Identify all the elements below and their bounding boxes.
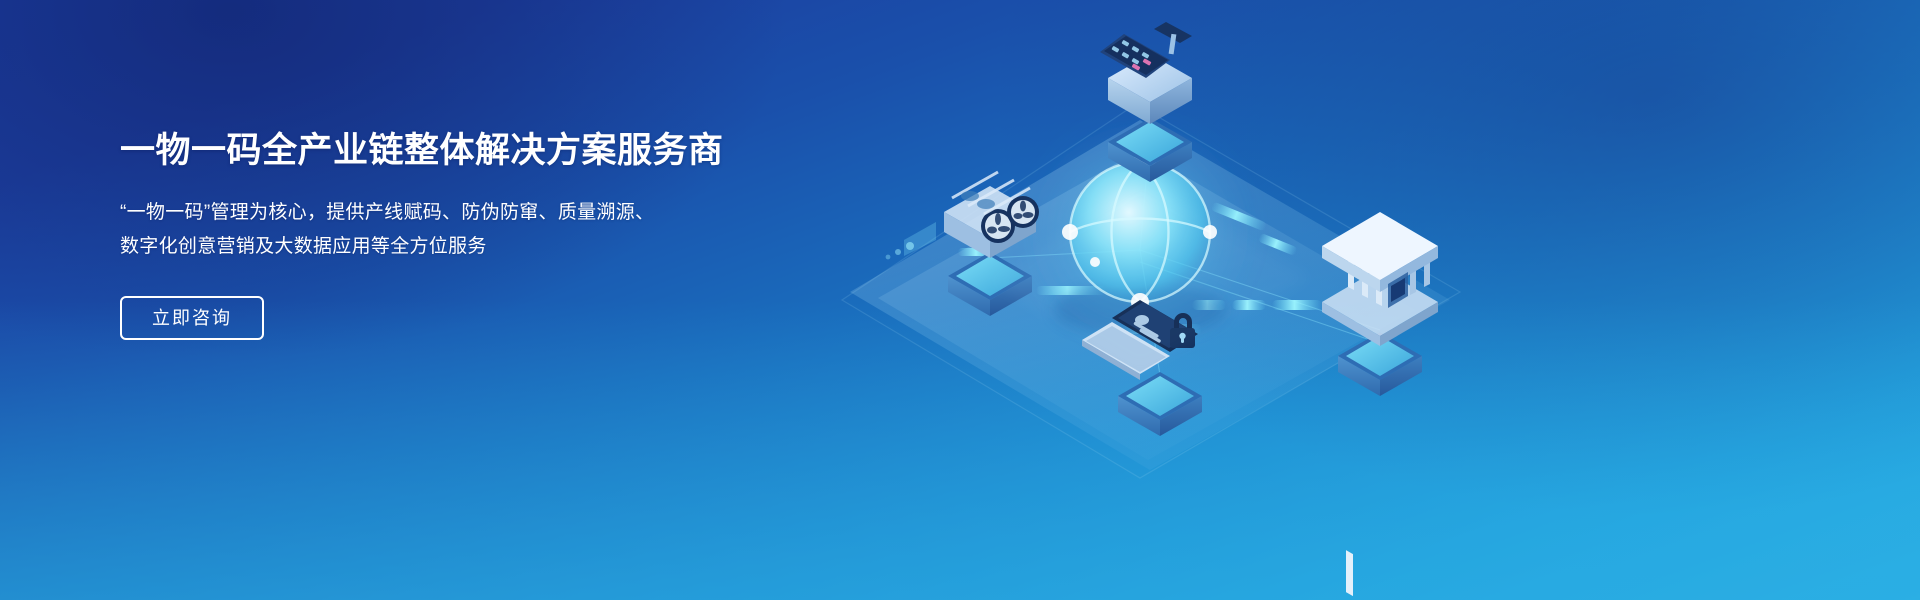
consult-now-button[interactable]: 立即咨询 bbox=[120, 296, 264, 340]
hero-illustration bbox=[840, 0, 1540, 600]
pos-terminal-icon bbox=[1100, 22, 1192, 182]
hero-copy: 一物一码全产业链整体解决方案服务商 “一物一码”管理为核心，提供产线赋码、防伪防… bbox=[120, 130, 820, 340]
hero-banner: 一物一码全产业链整体解决方案服务商 “一物一码”管理为核心，提供产线赋码、防伪防… bbox=[0, 0, 1920, 600]
hero-subtitle: “一物一码”管理为核心，提供产线赋码、防伪防窜、质量溯源、 数字化创意营销及大数… bbox=[120, 196, 820, 264]
page-title: 一物一码全产业链整体解决方案服务商 bbox=[120, 130, 820, 172]
hero-subtitle-line-2: 数字化创意营销及大数据应用等全方位服务 bbox=[120, 230, 820, 264]
hero-subtitle-line-1: “一物一码”管理为核心，提供产线赋码、防伪防窜、质量溯源、 bbox=[120, 196, 820, 230]
